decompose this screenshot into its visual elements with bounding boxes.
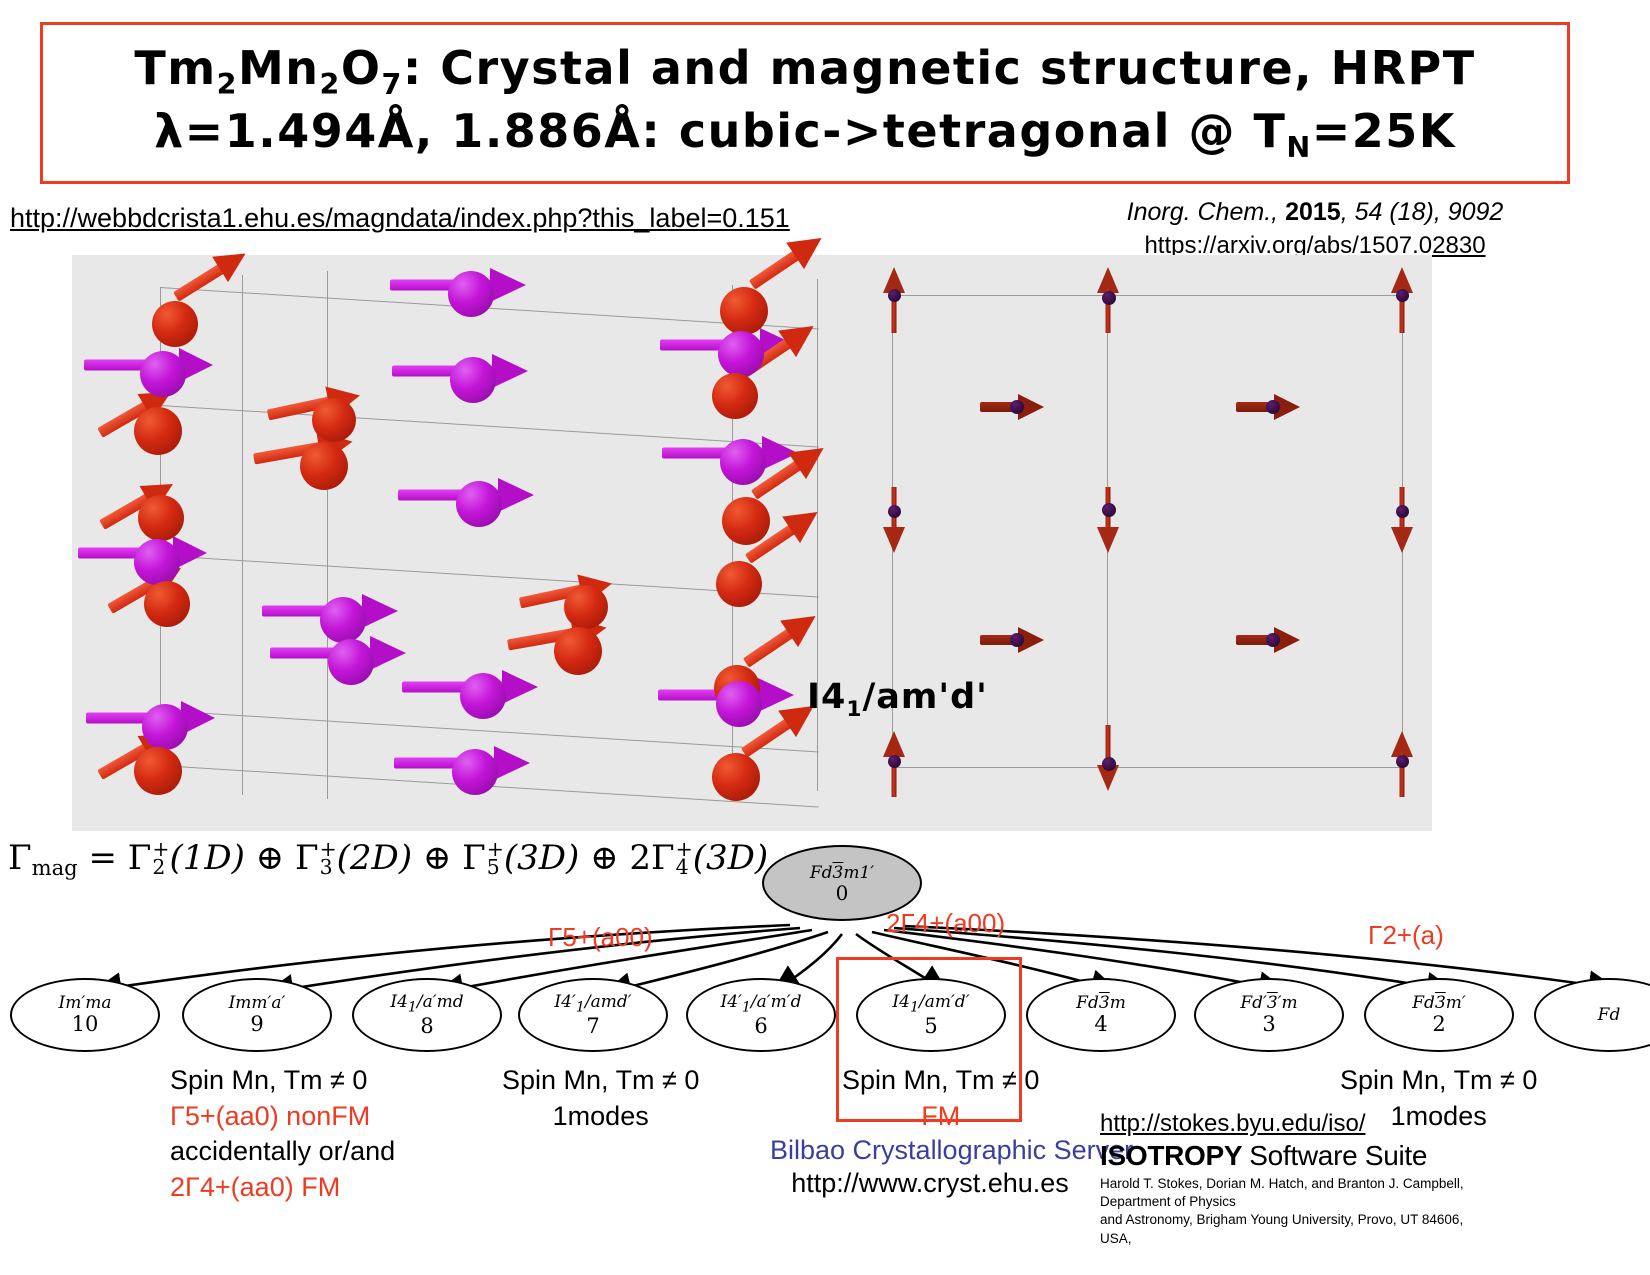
tree-node-5-label: I41/am′d′: [892, 992, 969, 1015]
atom-tm: [134, 539, 180, 585]
tree-node-4-label: Fd3m: [1076, 993, 1126, 1013]
atom-mn: [144, 581, 190, 627]
atom-tm: [720, 439, 766, 485]
atom-mn: [716, 561, 762, 607]
irrep-label-gamma5: Γ5+(a00): [548, 922, 653, 953]
bilbao-logo: Bilbao Crystallographic Server http://ww…: [770, 1135, 1090, 1199]
annotation-left-line-2: accidentally or/and: [170, 1134, 395, 1170]
spin-arrow-down: [884, 487, 904, 553]
tree-node-8-label: I41/a′md: [390, 992, 463, 1015]
tree-node-5[interactable]: I41/am′d′ 5: [856, 978, 1006, 1052]
structure-view-left: [72, 255, 862, 831]
annotation-left-line-0: Spin Mn, Tm ≠ 0: [170, 1063, 395, 1099]
tree-node-3-number: 3: [1262, 1013, 1275, 1036]
isotropy-title-bold: ISOTROPY: [1100, 1140, 1242, 1171]
tree-node-9-number: 9: [250, 1013, 263, 1036]
annotation-left-line-1: Γ5+(aa0) nonFM: [170, 1099, 395, 1135]
tree-node-3[interactable]: Fd′3′m 3: [1194, 978, 1344, 1052]
tree-node-7-number: 7: [586, 1015, 599, 1038]
atom-tm: [140, 351, 186, 397]
atom-mn: [300, 442, 348, 490]
tree-node-8-number: 8: [420, 1015, 433, 1038]
tree-node-7[interactable]: I4′1/amd′ 7: [518, 978, 668, 1052]
citation-journal: Inorg. Chem.,: [1127, 198, 1278, 226]
atom-mn: [712, 373, 758, 419]
tree-node-10-number: 10: [72, 1013, 99, 1036]
atom-mn: [720, 287, 768, 335]
annotation-left: Spin Mn, Tm ≠ 0 Γ5+(aa0) nonFM accidenta…: [170, 1063, 395, 1206]
tree-node-6-number: 6: [754, 1015, 767, 1038]
atom-tm: [320, 597, 366, 643]
title-box: Tm2Mn2O7: Crystal and magnetic structure…: [40, 22, 1570, 184]
atom-tm: [328, 639, 374, 685]
tree-node-10[interactable]: Im′ma 10: [10, 978, 160, 1052]
atom-tm: [716, 681, 762, 727]
tree-node-1-label: Fd: [1598, 1005, 1621, 1025]
tree-node-9[interactable]: Imm′a′ 9: [182, 978, 332, 1052]
annotation-mid-line-0: Spin Mn, Tm ≠ 0: [502, 1063, 699, 1099]
tree-node-4[interactable]: Fd3m 4: [1026, 978, 1176, 1052]
atom-tm: [456, 481, 502, 527]
atom-mn: [134, 747, 182, 795]
atom-tm: [460, 673, 506, 719]
title-line-1: Tm2Mn2O7: Crystal and magnetic structure…: [134, 40, 1475, 103]
atom-mn: [554, 627, 602, 675]
magndata-link[interactable]: http://webbdcrista1.ehu.es/magndata/inde…: [10, 203, 790, 234]
tree-node-2-label: Fd3m′: [1412, 993, 1466, 1013]
atom-mn: [152, 301, 198, 347]
isotropy-logo: http://stokes.byu.edu/iso/ ISOTROPY Soft…: [1100, 1110, 1480, 1248]
isotropy-url[interactable]: http://stokes.byu.edu/iso/: [1100, 1110, 1366, 1137]
structure-view-right: [862, 255, 1432, 831]
annotation-right-line-0: Spin Mn, Tm ≠ 0: [1340, 1063, 1537, 1099]
annotation-left-line-3: 2Γ4+(aa0) FM: [170, 1170, 395, 1206]
tree-node-7-label: I4′1/amd′: [554, 992, 631, 1015]
citation-text: Inorg. Chem., 2015, 54 (18), 9092: [1065, 198, 1565, 228]
bilbao-url[interactable]: http://www.cryst.ehu.es: [770, 1168, 1090, 1199]
annotation-mid: Spin Mn, Tm ≠ 0 1modes: [502, 1063, 699, 1134]
citation-issue: (18),: [1389, 198, 1440, 226]
title-line-2: λ=1.494Å, 1.886Å: cubic->tetragonal @ TN…: [154, 103, 1456, 166]
irrep-label-2gamma4: 2Γ4+(a00): [886, 908, 1005, 939]
citation: Inorg. Chem., 2015, 54 (18), 9092 https:…: [1065, 198, 1565, 260]
citation-year: 2015: [1285, 198, 1341, 226]
tree-root-number: 0: [836, 883, 849, 904]
tree-node-6[interactable]: I4′1/a′m′d 6: [686, 978, 836, 1052]
atom-tm: [718, 331, 764, 377]
tree-node-3-label: Fd′3′m: [1240, 993, 1297, 1013]
isotropy-authors: Harold T. Stokes, Dorian M. Hatch, and B…: [1100, 1175, 1480, 1248]
atom-tm: [448, 271, 494, 317]
space-group-label: I41/am'd': [807, 677, 988, 722]
isotropy-authors-line-1: Harold T. Stokes, Dorian M. Hatch, and B…: [1100, 1175, 1480, 1211]
tree-root-label: Fd3m1′: [810, 863, 874, 883]
atom-tm: [142, 704, 188, 750]
atom-mn: [138, 495, 184, 541]
isotropy-authors-line-2: and Astronomy, Brigham Young University,…: [1100, 1211, 1480, 1247]
citation-page: 9092: [1448, 198, 1504, 226]
atom-mn: [712, 753, 760, 801]
atom-tm: [450, 357, 496, 403]
tree-node-2-number: 2: [1432, 1013, 1445, 1036]
atom-tm: [452, 749, 498, 795]
tree-node-6-label: I4′1/a′m′d: [720, 992, 801, 1015]
tree-node-9-label: Imm′a′: [229, 993, 286, 1013]
citation-volume: 54: [1355, 198, 1383, 226]
tree-node-5-number: 5: [924, 1015, 937, 1038]
isotropy-title-rest: Software Suite: [1249, 1140, 1427, 1171]
atom-mn: [312, 398, 356, 442]
tree-node-2[interactable]: Fd3m′ 2: [1364, 978, 1514, 1052]
irrep-label-gamma2: Γ2+(a): [1368, 920, 1444, 951]
atom-mn: [722, 497, 770, 545]
tree-node-8[interactable]: I41/a′md 8: [352, 978, 502, 1052]
bilbao-name: Bilbao Crystallographic Server: [770, 1135, 1090, 1166]
tree-node-4-number: 4: [1094, 1013, 1107, 1036]
isotropy-title: ISOTROPY Software Suite: [1100, 1140, 1480, 1172]
atom-mn: [134, 407, 182, 455]
structure-panel: I41/am'd': [72, 255, 1432, 831]
atom-mn: [564, 585, 608, 629]
tree-node-10-label: Im′ma: [59, 993, 112, 1013]
annotation-mid-line-1: 1modes: [502, 1099, 699, 1135]
